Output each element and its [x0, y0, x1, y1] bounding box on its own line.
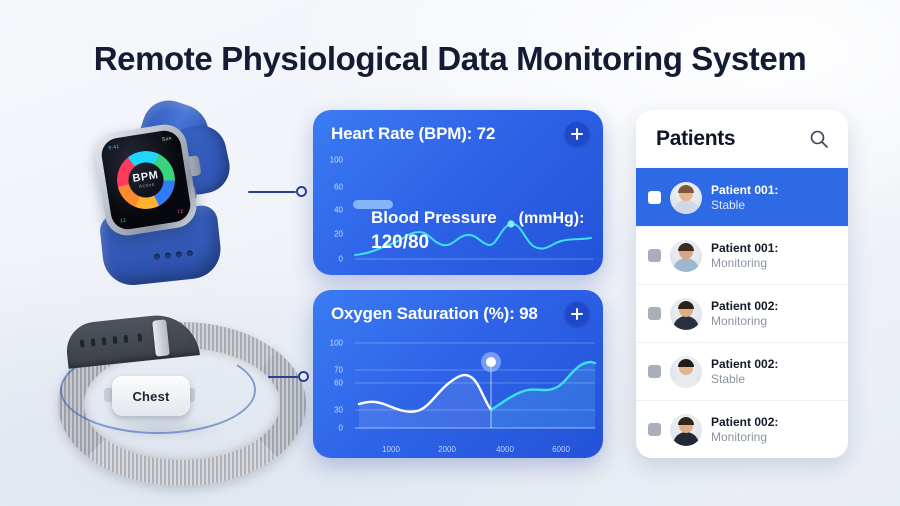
- page-root: Remote Physiological Data Monitoring Sys…: [0, 0, 900, 506]
- patient-name: Patient 002:: [711, 357, 778, 372]
- oxygen-title: Oxygen Saturation (%): 98: [331, 304, 538, 324]
- watch-screen-bpm: 72: [177, 209, 184, 216]
- avatar: [670, 182, 702, 214]
- blood-pressure-unit: (mmHg):: [519, 210, 585, 228]
- page-title: Remote Physiological Data Monitoring Sys…: [0, 40, 900, 78]
- patient-status: Monitoring: [711, 430, 778, 445]
- patient-status: Monitoring: [711, 314, 778, 329]
- oxygen-ytick-70: 70: [317, 366, 343, 375]
- patients-list: Patient 001:StablePatient 001:Monitoring…: [636, 168, 848, 458]
- heart-rate-card[interactable]: Heart Rate (BPM): 72 100 60 40 20 0 Bloo…: [313, 110, 603, 275]
- patient-name: Patient 002:: [711, 299, 778, 314]
- patient-status: Stable: [711, 372, 778, 387]
- avatar: [670, 356, 702, 388]
- patient-status: Monitoring: [711, 256, 778, 271]
- oxygen-saturation-card[interactable]: Oxygen Saturation (%): 98: [313, 290, 603, 458]
- blood-pressure-value: 120/80: [371, 232, 593, 254]
- avatar: [670, 240, 702, 272]
- patient-text: Patient 001:Stable: [711, 183, 778, 212]
- patient-row[interactable]: Patient 002:Stable: [636, 342, 848, 400]
- connector-watch-endpoint: [296, 186, 307, 197]
- oxygen-xtick-1000: 1000: [382, 445, 400, 454]
- heart-ytick-20: 20: [317, 230, 343, 239]
- patient-row[interactable]: Patient 002:Monitoring: [636, 400, 848, 458]
- patient-text: Patient 001:Monitoring: [711, 241, 778, 270]
- connector-line-watch: [248, 186, 310, 198]
- patient-checkbox[interactable]: [648, 249, 661, 262]
- blood-pressure-row: Blood Pressure (mmHg):: [371, 208, 593, 228]
- connector-watch-line: [248, 191, 296, 193]
- heart-rate-card-header: Heart Rate (BPM): 72: [331, 122, 589, 146]
- watch-screen: 9:41 Sun BPM Active 12 72: [99, 128, 192, 231]
- search-icon[interactable]: [808, 128, 830, 150]
- heart-ytick-40: 40: [317, 206, 343, 215]
- blood-pressure-label: Blood Pressure: [371, 208, 497, 228]
- avatar: [670, 298, 702, 330]
- patient-checkbox[interactable]: [648, 365, 661, 378]
- patient-row[interactable]: Patient 001:Monitoring: [636, 226, 848, 284]
- patient-status: Stable: [711, 198, 778, 213]
- patient-name: Patient 001:: [711, 241, 778, 256]
- patient-text: Patient 002:Monitoring: [711, 299, 778, 328]
- chest-sensor-pod: Chest: [112, 376, 190, 416]
- patient-checkbox[interactable]: [648, 191, 661, 204]
- patient-row[interactable]: Patient 002:Monitoring: [636, 284, 848, 342]
- oxygen-chart-svg: [313, 330, 603, 454]
- oxygen-xtick-4000: 4000: [496, 445, 514, 454]
- chest-strap-image: Chest: [48, 318, 278, 448]
- avatar: [670, 414, 702, 446]
- connector-chest-endpoint: [298, 371, 309, 382]
- watch-screen-steps: 12: [120, 218, 127, 225]
- oxygen-ytick-100: 100: [317, 339, 343, 348]
- patients-panel: Patients Patient 001:StablePatient 001:M…: [636, 110, 848, 458]
- patient-checkbox[interactable]: [648, 307, 661, 320]
- heart-ytick-0: 0: [317, 255, 343, 264]
- watch-screen-time: 9:41: [108, 144, 120, 152]
- patient-name: Patient 001:: [711, 183, 778, 198]
- patients-title: Patients: [656, 127, 735, 151]
- oxygen-xtick-6000: 6000: [552, 445, 570, 454]
- heart-rate-add-button[interactable]: [565, 122, 589, 146]
- heart-ytick-60: 60: [317, 183, 343, 192]
- oxygen-ytick-60: 60: [317, 379, 343, 388]
- oxygen-saturation-chart: 100 70 60 30 0 1000 2000 4000 6000: [313, 330, 603, 454]
- heart-rate-title: Heart Rate (BPM): 72: [331, 124, 495, 144]
- patient-row[interactable]: Patient 001:Stable: [636, 168, 848, 226]
- chest-sensor-label: Chest: [132, 389, 169, 404]
- oxygen-add-button[interactable]: [565, 302, 589, 326]
- oxygen-card-header: Oxygen Saturation (%): 98: [331, 302, 589, 326]
- connector-chest-line: [268, 376, 298, 378]
- connector-line-chest: [268, 371, 312, 383]
- search-icon-svg: [808, 128, 830, 150]
- heart-rate-chart: 100 60 40 20 0 Blood Pressure (mmHg): 12…: [313, 152, 603, 270]
- watch-case: 9:41 Sun BPM Active 12 72: [92, 121, 199, 238]
- heart-ytick-100: 100: [317, 156, 343, 165]
- blood-pressure-block: Blood Pressure (mmHg): 120/80: [371, 208, 593, 254]
- patient-name: Patient 002:: [711, 415, 778, 430]
- smartwatch-image: 9:41 Sun BPM Active 12 72: [58, 100, 268, 285]
- patient-text: Patient 002:Stable: [711, 357, 778, 386]
- oxygen-ytick-0: 0: [317, 424, 343, 433]
- oxygen-xtick-2000: 2000: [438, 445, 456, 454]
- patients-header: Patients: [636, 110, 848, 168]
- oxygen-ytick-30: 30: [317, 406, 343, 415]
- patient-text: Patient 002:Monitoring: [711, 415, 778, 444]
- watch-screen-day: Sun: [162, 135, 173, 142]
- patient-checkbox[interactable]: [648, 423, 661, 436]
